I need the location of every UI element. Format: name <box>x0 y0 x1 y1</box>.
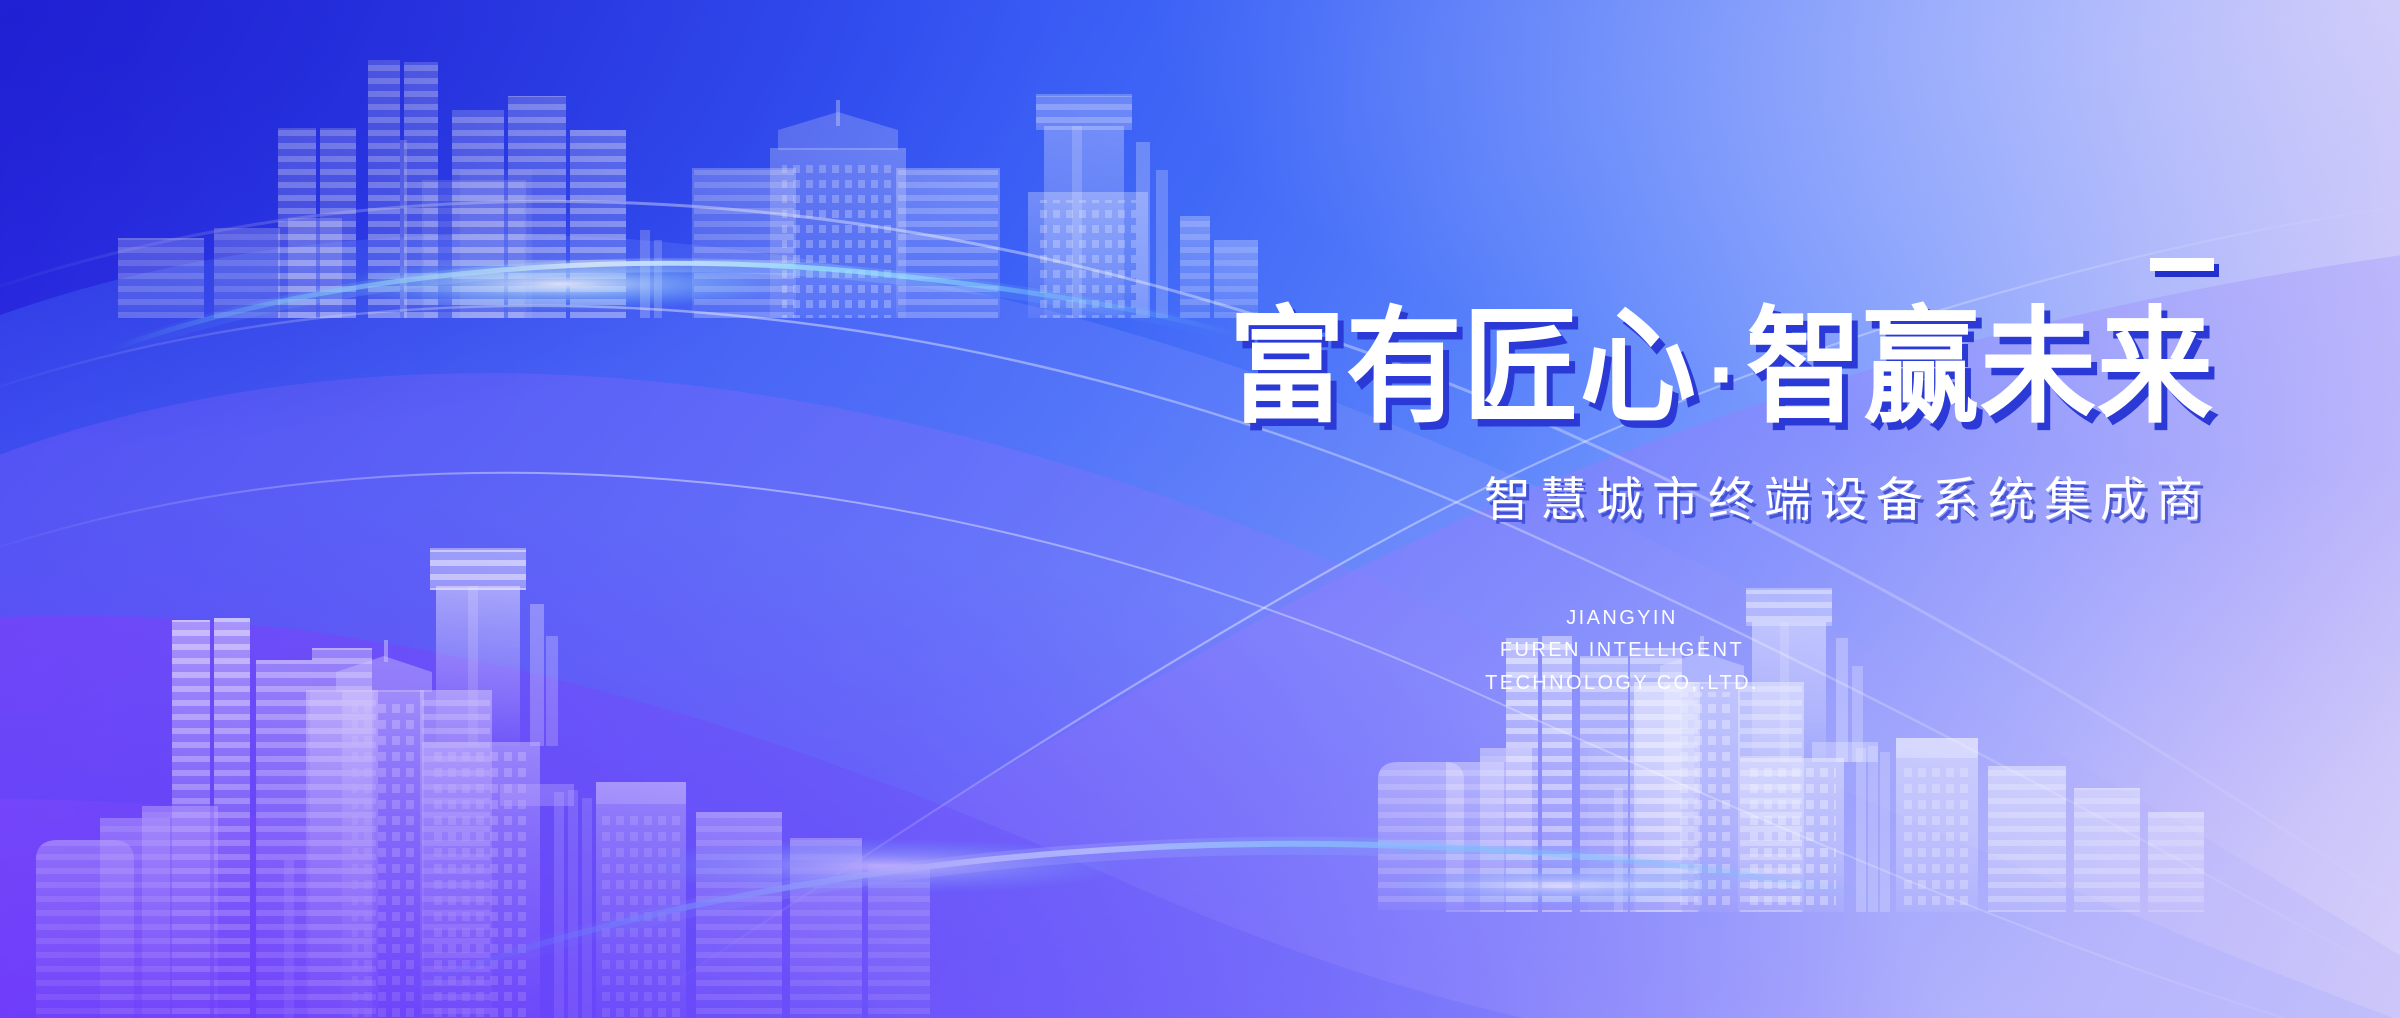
company-line-1: JIANGYIN <box>1034 602 2210 634</box>
banner-stage: 富有匠心·智赢未来 智慧城市终端设备系统集成商 JIANGYIN FUREN I… <box>0 0 2400 1018</box>
accent-dash-icon <box>2150 258 2214 271</box>
company-name-block: JIANGYIN FUREN INTELLIGENT TECHNOLOGY CO… <box>1034 602 2214 699</box>
headline-left: 富有匠心 <box>1229 295 1697 441</box>
subtitle: 智慧城市终端设备系统集成商 <box>1034 477 2214 524</box>
banner-text-block: 富有匠心·智赢未来 智慧城市终端设备系统集成商 JIANGYIN FUREN I… <box>1034 258 2214 699</box>
company-line-2: FUREN INTELLIGENT <box>1034 634 2210 666</box>
headline-right: 智赢未来 <box>1746 295 2214 441</box>
page-title: 富有匠心·智赢未来 <box>1034 306 2214 431</box>
company-line-3: TECHNOLOGY CO,.LTD. <box>1034 667 2210 699</box>
headline-separator-dot: · <box>1697 330 1746 423</box>
